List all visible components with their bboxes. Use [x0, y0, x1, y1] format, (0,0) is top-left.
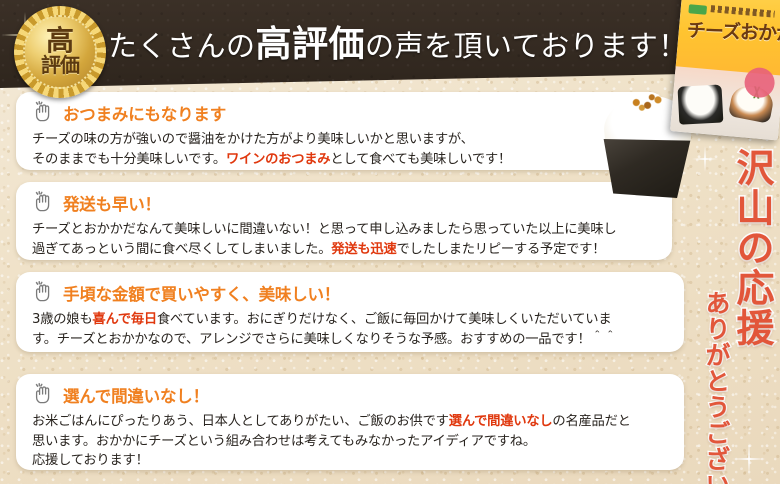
testimonial-header: 手頃な金額で買いやすく、美味しい！ — [32, 281, 670, 305]
text-run: 思います。おかかにチーズという組み合わせは考えてもみなかったアイディアですね。 — [32, 434, 536, 449]
testimonial-header: 選んで間違いなし！ — [32, 383, 670, 407]
highlight-run: 選んで間違いなし — [449, 414, 553, 429]
page-title: たくさんの高評価の声を頂いております！ — [108, 18, 668, 70]
highlight-run: 発送も迅速 — [331, 242, 396, 257]
text-run: 3歳の娘も — [32, 312, 92, 327]
badge-bottom-chars: 評価 — [41, 54, 79, 76]
pointing-hand-icon — [32, 190, 56, 214]
testimonial-header: 発送も早い！ — [32, 191, 658, 215]
highlight-run: ワインのおつまみ — [226, 152, 330, 167]
testimonial-page: 高 評価 たくさんの高評価の声を頂いております！ チーズおかか — [0, 0, 780, 484]
product-package-photo: チーズおかか — [670, 0, 780, 140]
testimonial-line: チーズの味の方が強いので醤油をかけた方がより美味しいかと思いますが、 — [32, 130, 650, 150]
page-title-emphasis: 高評価 — [256, 23, 366, 65]
text-run: の名産品だと — [552, 414, 630, 429]
testimonial-title: 手頃な金額で買いやすく、美味しい！ — [63, 281, 340, 305]
text-run: 応援しております！ — [32, 453, 149, 468]
testimonial-header: おつまみにもなります — [32, 101, 650, 125]
text-run: 食べています。おにぎりだけなく、ご飯に毎回かけて美味しくいただいていま — [157, 312, 611, 327]
text-run: 過ぎてあっという間に食べ尽くしてしまいました。 — [32, 242, 331, 257]
text-run: として食べても美味しいです！ — [330, 152, 511, 167]
package-title: チーズおかか — [687, 21, 780, 44]
testimonial-line: お米ごはんにぴったりあう、日本人としてありがたい、ご飯のお供です選んで間違いなし… — [32, 412, 670, 432]
testimonial-line: 3歳の娘も喜んで毎日食べています。おにぎりだけなく、ご飯に毎回かけて美味しくいた… — [32, 310, 670, 330]
testimonial-body: 3歳の娘も喜んで毎日食べています。おにぎりだけなく、ご飯に毎回かけて美味しくいた… — [32, 310, 670, 349]
onigiri-nori — [598, 133, 698, 204]
testimonial-body: チーズとおかかだなんて美味しいに間違いない！と思って申し込みましたら思っていた以… — [32, 220, 658, 259]
text-run: でしたしまたリピーする予定です！ — [397, 242, 606, 257]
pointing-hand-icon — [32, 280, 56, 304]
testimonial-body: お米ごはんにぴったりあう、日本人としてありがたい、ご飯のお供です選んで間違いなし… — [32, 412, 670, 471]
package-brand-mark — [688, 4, 707, 15]
testimonial-line: 思います。おかかにチーズという組み合わせは考えてもみなかったアイディアですね。 — [32, 432, 670, 452]
text-run: お米ごはんにぴったりあう、日本人としてありがたい、ご飯のお供です — [32, 414, 449, 429]
testimonial-title: おつまみにもなります — [63, 101, 226, 125]
high-rating-badge: 高 評価 — [14, 6, 106, 98]
testimonial-title: 選んで間違いなし！ — [63, 383, 209, 407]
pointing-hand-icon — [32, 100, 56, 124]
sparkle-icon — [732, 442, 766, 476]
testimonial-card: おつまみにもなります チーズの味の方が強いので醤油をかけた方がより美味しいかと思… — [16, 92, 664, 170]
text-run: チーズとおかかだなんて美味しいに間違いない！と思って申し込みましたら思っていた以… — [32, 222, 616, 237]
pointing-hand-icon — [32, 382, 56, 406]
page-title-suffix: の声を頂いております！ — [365, 29, 688, 63]
testimonial-line: 応援しております！ — [32, 451, 670, 471]
badge-top-char: 高 — [46, 28, 74, 54]
testimonial-card: 発送も早い！ チーズとおかかだなんて美味しいに間違いない！と思って申し込みました… — [16, 182, 672, 260]
testimonial-card: 手頃な金額で買いやすく、美味しい！ 3歳の娘も喜んで毎日食べています。おにぎりだ… — [16, 272, 684, 352]
testimonial-line: チーズとおかかだなんて美味しいに間違いない！と思って申し込みましたら思っていた以… — [32, 220, 658, 240]
testimonial-line: そのままでも十分美味しいです。ワインのおつまみとして食べても美味しいです！ — [32, 150, 650, 170]
testimonial-body: チーズの味の方が強いので醤油をかけた方がより美味しいかと思いますが、 そのままで… — [32, 130, 650, 169]
side-callout-sub: ありがとうございます！ — [703, 290, 730, 484]
text-run: チーズの味の方が強いので醤油をかけた方がより美味しいかと思いますが、 — [32, 132, 474, 147]
side-callout-main: 沢山の応援 — [732, 148, 772, 348]
package-onigiri-left — [677, 84, 723, 124]
text-run: す。チーズとおかかなので、アレンジでさらに美味しくなりそうな予感。おすすめの一品… — [32, 332, 617, 347]
testimonial-line: す。チーズとおかかなので、アレンジでさらに美味しくなりそうな予感。おすすめの一品… — [32, 330, 670, 350]
testimonial-card: 選んで間違いなし！ お米ごはんにぴったりあう、日本人としてありがたい、ご飯のお供… — [16, 374, 684, 470]
testimonial-title: 発送も早い！ — [63, 191, 161, 215]
highlight-run: 喜んで毎日 — [92, 312, 157, 327]
page-title-prefix: たくさんの — [108, 29, 256, 63]
text-run: そのままでも十分美味しいです。 — [32, 152, 226, 167]
badge-text: 高 評価 — [25, 17, 95, 87]
badge-disc: 高 評価 — [23, 15, 97, 89]
testimonial-line: 過ぎてあっという間に食べ尽くしてしまいました。発送も迅速でしたしまたリピーする予… — [32, 240, 658, 260]
